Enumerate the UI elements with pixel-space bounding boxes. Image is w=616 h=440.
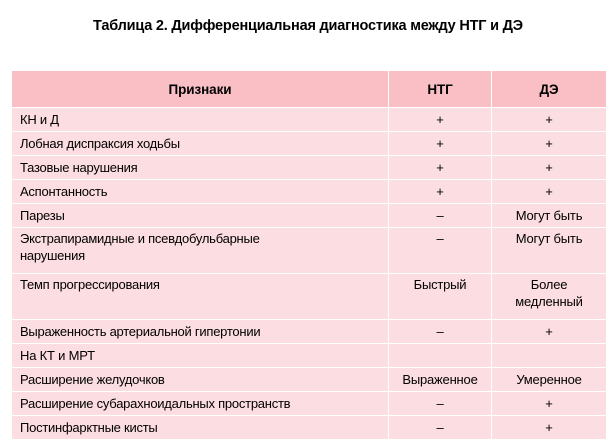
cell-ntg: – <box>389 228 492 274</box>
cell-feature: Экстрапирамидные и псевдобульбарные нару… <box>12 228 389 274</box>
table-row: Экстрапирамидные и псевдобульбарные нару… <box>12 228 607 274</box>
cell-de: + <box>492 156 607 180</box>
cell-de: Могут быть <box>492 228 607 274</box>
cell-feature: На КТ и МРТ <box>12 344 389 368</box>
page-root: Таблица 2. Дифференциальная диагностика … <box>0 0 616 432</box>
table-row: Темп прогрессирования Быстрый Более медл… <box>12 274 607 320</box>
cell-de: + <box>492 320 607 344</box>
cell-feature: Расширение желудочков <box>12 368 389 392</box>
column-header-de: ДЭ <box>492 71 607 108</box>
cell-feature: КН и Д <box>12 108 389 132</box>
cell-ntg: + <box>389 156 492 180</box>
table-row: Выраженность артериальной гипертонии – + <box>12 320 607 344</box>
table-row: КН и Д + + <box>12 108 607 132</box>
cell-feature-line-1: Экстрапирамидные и псевдобульбарные <box>20 230 384 247</box>
table-row: Парезы – Могут быть <box>12 204 607 228</box>
cell-ntg: Выраженное <box>389 368 492 392</box>
cell-feature: Постинфарктные кисты <box>12 416 389 440</box>
cell-de: + <box>492 392 607 416</box>
table-row-section-header: На КТ и МРТ <box>12 344 607 368</box>
table-row: Постинфарктные кисты – + <box>12 416 607 440</box>
table-row: Расширение желудочков Выраженное Умеренн… <box>12 368 607 392</box>
cell-ntg: – <box>389 392 492 416</box>
cell-ntg: – <box>389 416 492 440</box>
cell-de: Более медленный <box>492 274 607 320</box>
cell-feature: Лобная диспраксия ходьбы <box>12 132 389 156</box>
table-row: Тазовые нарушения + + <box>12 156 607 180</box>
cell-de-line-1: Более <box>494 276 604 293</box>
cell-feature: Выраженность артериальной гипертонии <box>12 320 389 344</box>
cell-ntg <box>389 344 492 368</box>
cell-ntg: – <box>389 204 492 228</box>
cell-feature: Расширение субарахноидальных пространств <box>12 392 389 416</box>
cell-de: Умеренное <box>492 368 607 392</box>
cell-ntg: + <box>389 108 492 132</box>
table-body: КН и Д + + Лобная диспраксия ходьбы + + … <box>12 108 607 440</box>
table-row: Аспонтанность + + <box>12 180 607 204</box>
cell-ntg: + <box>389 180 492 204</box>
cell-de: + <box>492 108 607 132</box>
cell-de: + <box>492 132 607 156</box>
cell-feature-line-2: нарушения <box>20 247 384 264</box>
column-header-ntg: НТГ <box>389 71 492 108</box>
cell-feature: Тазовые нарушения <box>12 156 389 180</box>
table-row: Лобная диспраксия ходьбы + + <box>12 132 607 156</box>
table-header: Признаки НТГ ДЭ <box>12 71 607 108</box>
cell-de <box>492 344 607 368</box>
cell-de: + <box>492 180 607 204</box>
cell-feature: Темп прогрессирования <box>12 274 389 320</box>
cell-de: Могут быть <box>492 204 607 228</box>
cell-de: + <box>492 416 607 440</box>
cell-ntg: Быстрый <box>389 274 492 320</box>
page-title: Таблица 2. Дифференциальная диагностика … <box>0 18 616 34</box>
table-header-row: Признаки НТГ ДЭ <box>12 71 607 108</box>
cell-ntg: + <box>389 132 492 156</box>
column-header-feature: Признаки <box>12 71 389 108</box>
cell-ntg: – <box>389 320 492 344</box>
differential-diagnosis-table: Признаки НТГ ДЭ КН и Д + + Лобная диспра… <box>11 70 607 440</box>
cell-feature: Парезы <box>12 204 389 228</box>
cell-de-line-2: медленный <box>494 293 604 310</box>
cell-feature: Аспонтанность <box>12 180 389 204</box>
table-row: Расширение субарахноидальных пространств… <box>12 392 607 416</box>
